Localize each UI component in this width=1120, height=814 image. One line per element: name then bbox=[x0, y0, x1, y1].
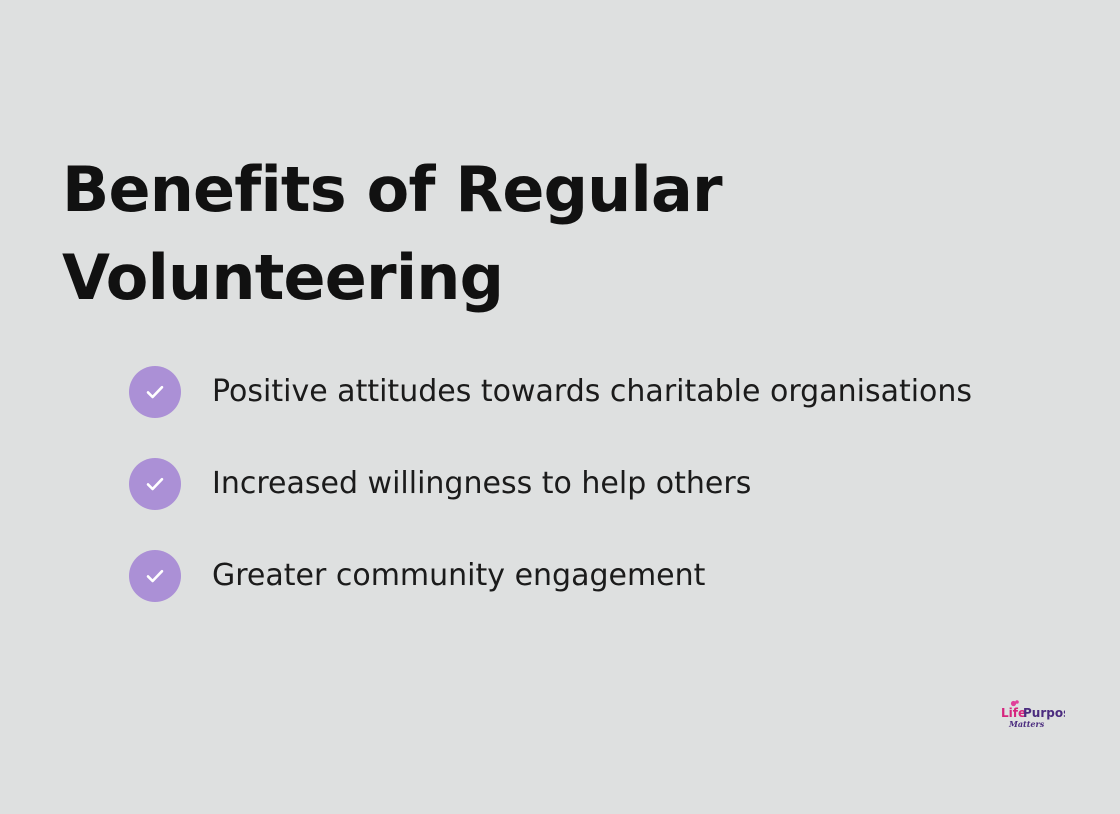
list-item-label: Greater community engagement bbox=[212, 559, 705, 593]
list-item: Positive attitudes towards charitable or… bbox=[129, 366, 1069, 418]
check-icon bbox=[129, 366, 181, 418]
check-icon bbox=[129, 458, 181, 510]
logo-word-purpose: Purpose bbox=[1023, 706, 1065, 720]
benefits-list: Positive attitudes towards charitable or… bbox=[129, 366, 1069, 602]
slide-canvas: Benefits of Regular Volunteering Positiv… bbox=[0, 0, 1120, 814]
brand-logo: Life Purpose Matters bbox=[983, 686, 1065, 742]
list-item: Greater community engagement bbox=[129, 550, 1069, 602]
list-item-label: Increased willingness to help others bbox=[212, 467, 751, 501]
logo-tagline: Matters bbox=[1008, 719, 1045, 729]
page-title: Benefits of Regular Volunteering bbox=[62, 146, 782, 322]
list-item: Increased willingness to help others bbox=[129, 458, 1069, 510]
list-item-label: Positive attitudes towards charitable or… bbox=[212, 375, 972, 409]
check-icon bbox=[129, 550, 181, 602]
